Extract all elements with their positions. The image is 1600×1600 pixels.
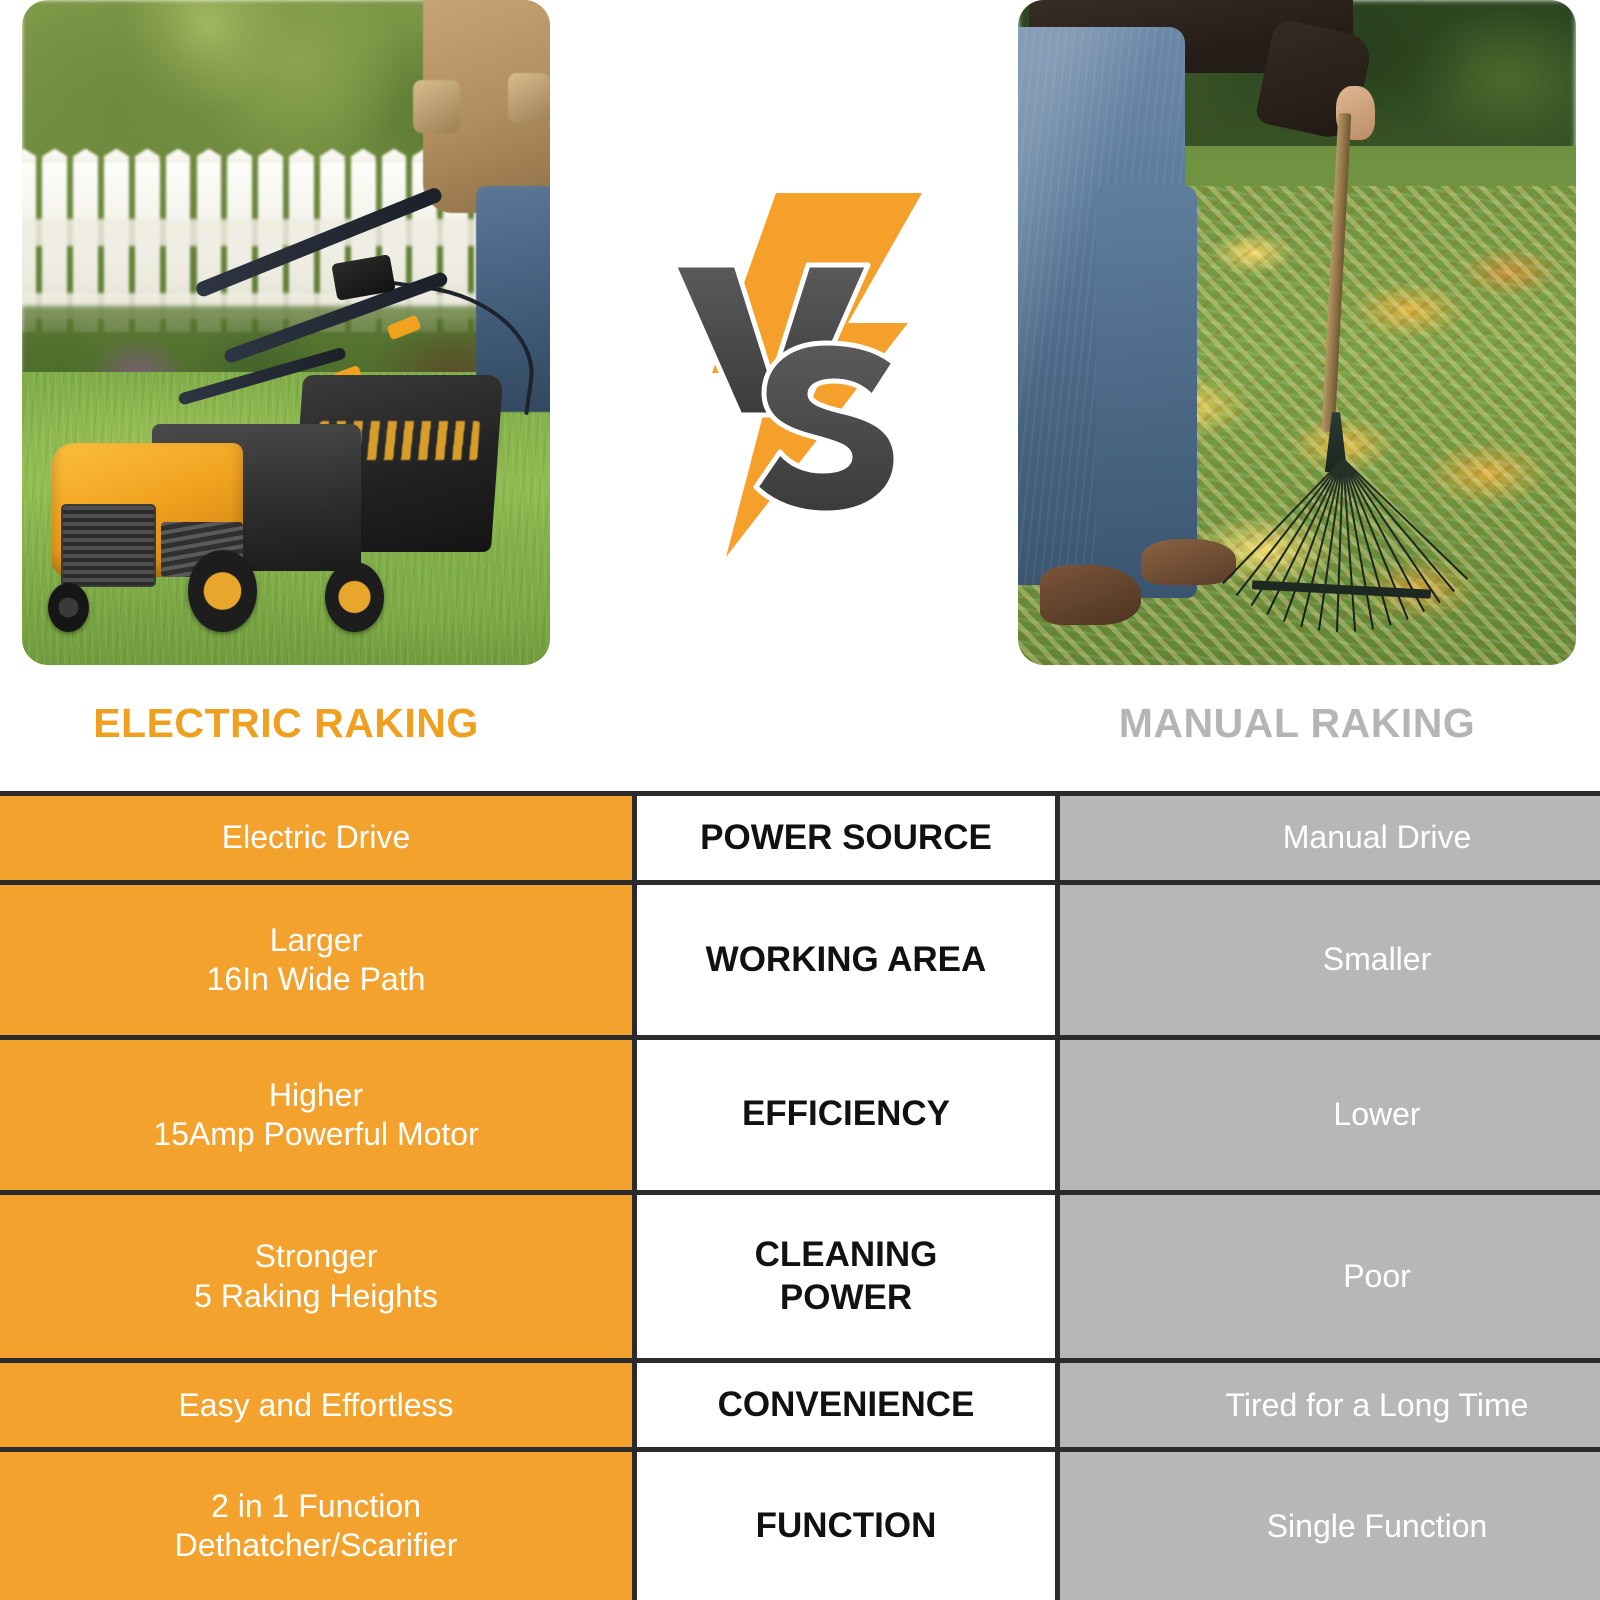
electric-photo-scene (22, 0, 550, 665)
table-row: Larger 16In Wide Path WORKING AREA Small… (0, 882, 1600, 1037)
electric-dethatcher (43, 333, 497, 639)
manual-raking-caption: MANUAL RAKING (1018, 700, 1576, 747)
feature-label: POWER (651, 1277, 1041, 1320)
manual-cell-line: Manual Drive (1074, 818, 1600, 857)
electric-cell-line: 2 in 1 Function (14, 1487, 618, 1526)
manual-cell: Tired for a Long Time (1058, 1361, 1600, 1450)
feature-cell: POWER SOURCE (635, 794, 1058, 883)
rake-tines (1252, 459, 1431, 632)
electric-cell: Stronger 5 Raking Heights (0, 1192, 635, 1361)
electric-cell-line: 16In Wide Path (14, 960, 618, 999)
mower-wheel-mid (188, 550, 256, 633)
manual-cell: Manual Drive (1058, 794, 1600, 883)
electric-cell: Higher 15Amp Powerful Motor (0, 1037, 635, 1192)
feature-cell: CONVENIENCE (635, 1361, 1058, 1450)
electric-cell-line: Easy and Effortless (14, 1386, 618, 1425)
electric-cell-line: Larger (14, 921, 618, 960)
table-row: 2 in 1 Function Dethatcher/Scarifier FUN… (0, 1450, 1600, 1600)
manual-cell: Single Function (1058, 1450, 1600, 1600)
feature-cell: FUNCTION (635, 1450, 1058, 1600)
raker-shoe-right (1141, 539, 1236, 586)
feature-label: WORKING AREA (651, 939, 1041, 982)
versus-badge (640, 165, 960, 575)
hero-comparison-banner: ELECTRIC RAKING MANUAL RAKING (0, 0, 1600, 795)
electric-cell: Easy and Effortless (0, 1361, 635, 1450)
electric-cell: Larger 16In Wide Path (0, 882, 635, 1037)
manual-cell-line: Tired for a Long Time (1074, 1386, 1600, 1425)
operator-glove-left (413, 80, 461, 133)
manual-raking-photo (1018, 0, 1576, 665)
comparison-table-body: Electric Drive POWER SOURCE Manual Drive… (0, 794, 1600, 1600)
table-row: Electric Drive POWER SOURCE Manual Drive (0, 794, 1600, 883)
feature-label: CLEANING (651, 1234, 1041, 1277)
feature-cell: CLEANING POWER (635, 1192, 1058, 1361)
table-row: Easy and Effortless CONVENIENCE Tired fo… (0, 1361, 1600, 1450)
manual-cell-line: Single Function (1074, 1507, 1600, 1546)
electric-cell: 2 in 1 Function Dethatcher/Scarifier (0, 1450, 635, 1600)
feature-cell: EFFICIENCY (635, 1037, 1058, 1192)
manual-cell-line: Lower (1074, 1095, 1600, 1134)
manual-cell-line: Smaller (1074, 940, 1600, 979)
raker-jeans-right-leg (1096, 186, 1196, 598)
manual-cell: Poor (1058, 1192, 1600, 1361)
electric-cell-line: Dethatcher/Scarifier (14, 1526, 618, 1565)
fence-rail-upper (22, 219, 550, 246)
raker-shoe-left (1040, 565, 1140, 625)
electric-raking-caption: ELECTRIC RAKING (22, 700, 550, 747)
electric-cell-line: 5 Raking Heights (14, 1277, 618, 1316)
feature-cell: WORKING AREA (635, 882, 1058, 1037)
mower-wheel-front (48, 583, 89, 632)
electric-cell-line: Electric Drive (14, 818, 618, 857)
feature-label: EFFICIENCY (651, 1093, 1041, 1136)
electric-cell: Electric Drive (0, 794, 635, 883)
feature-label: CONVENIENCE (651, 1384, 1041, 1427)
comparison-table: Electric Drive POWER SOURCE Manual Drive… (0, 791, 1600, 1600)
electric-cell-line: Higher (14, 1076, 618, 1115)
feature-label: FUNCTION (651, 1505, 1041, 1548)
manual-cell: Lower (1058, 1037, 1600, 1192)
electric-cell-line: 15Amp Powerful Motor (14, 1115, 618, 1154)
electric-cell-line: Stronger (14, 1237, 618, 1276)
electric-raking-photo (22, 0, 550, 665)
manual-cell: Smaller (1058, 882, 1600, 1037)
table-row: Higher 15Amp Powerful Motor EFFICIENCY L… (0, 1037, 1600, 1192)
manual-cell-line: Poor (1074, 1257, 1600, 1296)
mower-front-grille (61, 504, 156, 588)
feature-label: POWER SOURCE (651, 817, 1041, 860)
manual-photo-scene (1018, 0, 1576, 665)
mower-wheel-rear (325, 562, 384, 632)
table-row: Stronger 5 Raking Heights CLEANING POWER… (0, 1192, 1600, 1361)
operator-glove-right (508, 73, 550, 123)
